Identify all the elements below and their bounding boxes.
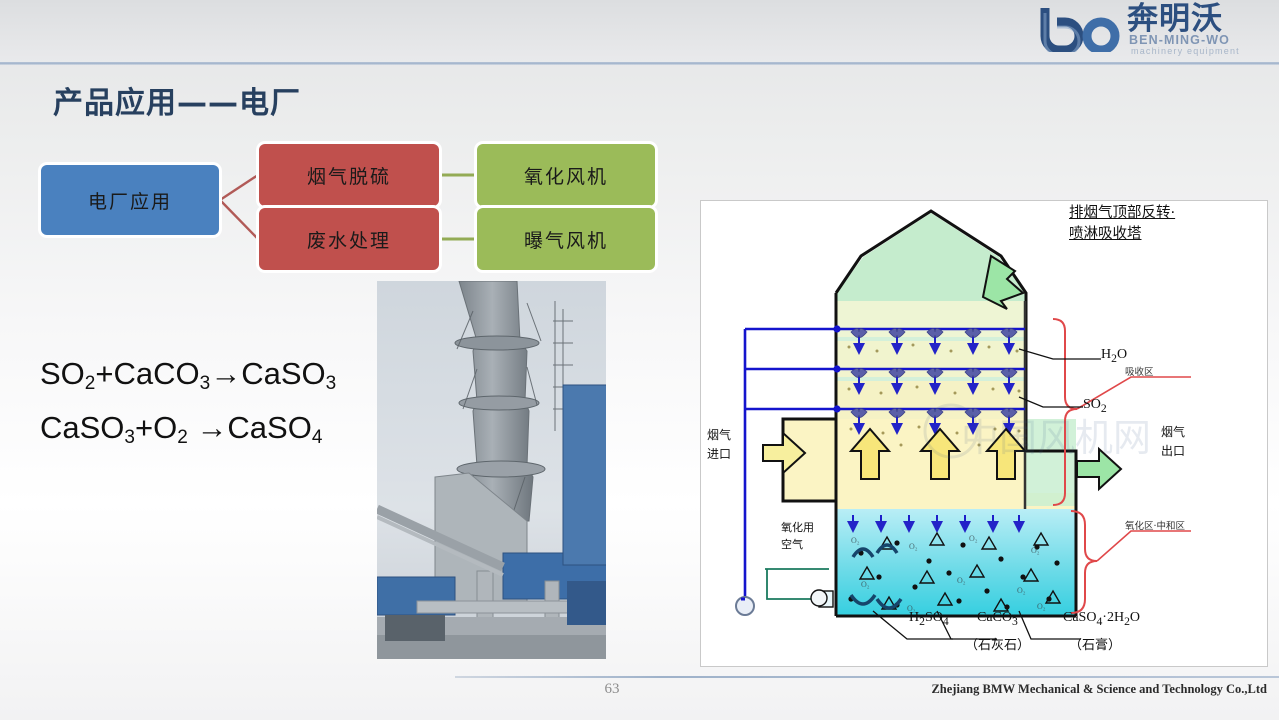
flow-box-wastewater[interactable]: 废水处理 <box>259 208 439 270</box>
label-h2o: H2O <box>1101 347 1127 365</box>
bo-logo-icon <box>1039 6 1139 52</box>
diagram-title: 排烟气顶部反转· 喷淋吸收塔 <box>1069 203 1175 245</box>
flow-box-main[interactable]: 电厂应用 <box>41 165 219 235</box>
footer-company-name: Zhejiang BMW Mechanical & Science and Te… <box>931 682 1267 697</box>
label-so2: SO2 <box>1083 397 1107 415</box>
svg-text:O₂: O₂ <box>861 580 870 589</box>
flow-box-fgd[interactable]: 烟气脱硫 <box>259 144 439 206</box>
header-divider <box>0 62 1279 65</box>
label-oxidation-zone: 氧化区·中和区 <box>1125 518 1185 532</box>
page-number: 63 <box>597 681 627 698</box>
diagram-title-line2: 喷淋吸收塔 <box>1069 226 1142 242</box>
logo-chinese-name: 奔明沃 <box>1127 2 1223 36</box>
oxidation-air-line2: 空气 <box>781 538 803 551</box>
svg-text:O₂: O₂ <box>957 576 966 585</box>
note-gypsum: （石膏） <box>1069 634 1121 653</box>
note-limestone: （石灰石） <box>965 634 1030 653</box>
label-oxidation-air: 氧化用 空气 <box>781 519 814 553</box>
label-caso4: CaSO4·2H2O <box>1063 610 1140 628</box>
formula-line-2: CaSO3+O2 →CaSO4 <box>40 406 336 460</box>
outlet-line1: 烟气 <box>1161 425 1185 439</box>
formula-line-1: SO2+CaCO3→CaSO3 <box>40 352 336 406</box>
company-logo: 奔明沃 BEN-MING-WO machinery equipment <box>1039 2 1271 60</box>
flow-chart: 电厂应用 烟气脱硫 废水处理 氧化风机 曝气风机 <box>35 140 665 270</box>
plant-photo-illustration <box>377 281 606 659</box>
label-flue-gas-inlet: 烟气 进口 <box>707 426 731 464</box>
svg-text:中国风机网: 中国风机网 <box>961 416 1151 460</box>
svg-text:O₂: O₂ <box>969 534 978 543</box>
svg-text:O₂: O₂ <box>851 536 860 545</box>
label-absorption-zone: 吸收区 <box>1125 364 1154 378</box>
inlet-line2: 进口 <box>707 447 731 461</box>
label-flue-gas-outlet: 烟气 出口 <box>1161 423 1185 461</box>
inlet-line1: 烟气 <box>707 428 731 442</box>
svg-text:O₂: O₂ <box>1037 602 1046 611</box>
chemical-formulas: SO2+CaCO3→CaSO3 CaSO3+O2 →CaSO4 <box>40 352 336 460</box>
outlet-line2: 出口 <box>1161 444 1185 458</box>
absorber-process-diagram: O₂O₂O₂ O₂O₂O₂ O₂O₂O₂ 中国风机网 <box>700 200 1268 667</box>
oxidation-air-line1: 氧化用 <box>781 521 814 534</box>
flow-box-oxidation-blower[interactable]: 氧化风机 <box>477 144 655 206</box>
logo-tagline: machinery equipment <box>1131 46 1240 57</box>
page-title: 产品应用——电厂 <box>53 78 301 122</box>
svg-text:O₂: O₂ <box>909 542 918 551</box>
footer-divider <box>455 676 1279 678</box>
label-h2so4: H2SO4 <box>909 610 949 628</box>
svg-text:O₂: O₂ <box>1031 546 1040 555</box>
svg-text:O₂: O₂ <box>1017 586 1026 595</box>
plant-photo <box>377 281 606 659</box>
label-caco3: CaCO3 <box>977 610 1018 628</box>
logo-english-name: BEN-MING-WO <box>1129 33 1230 47</box>
diagram-title-line1: 排烟气顶部反转· <box>1069 205 1175 221</box>
flow-box-aeration-blower[interactable]: 曝气风机 <box>477 208 655 270</box>
